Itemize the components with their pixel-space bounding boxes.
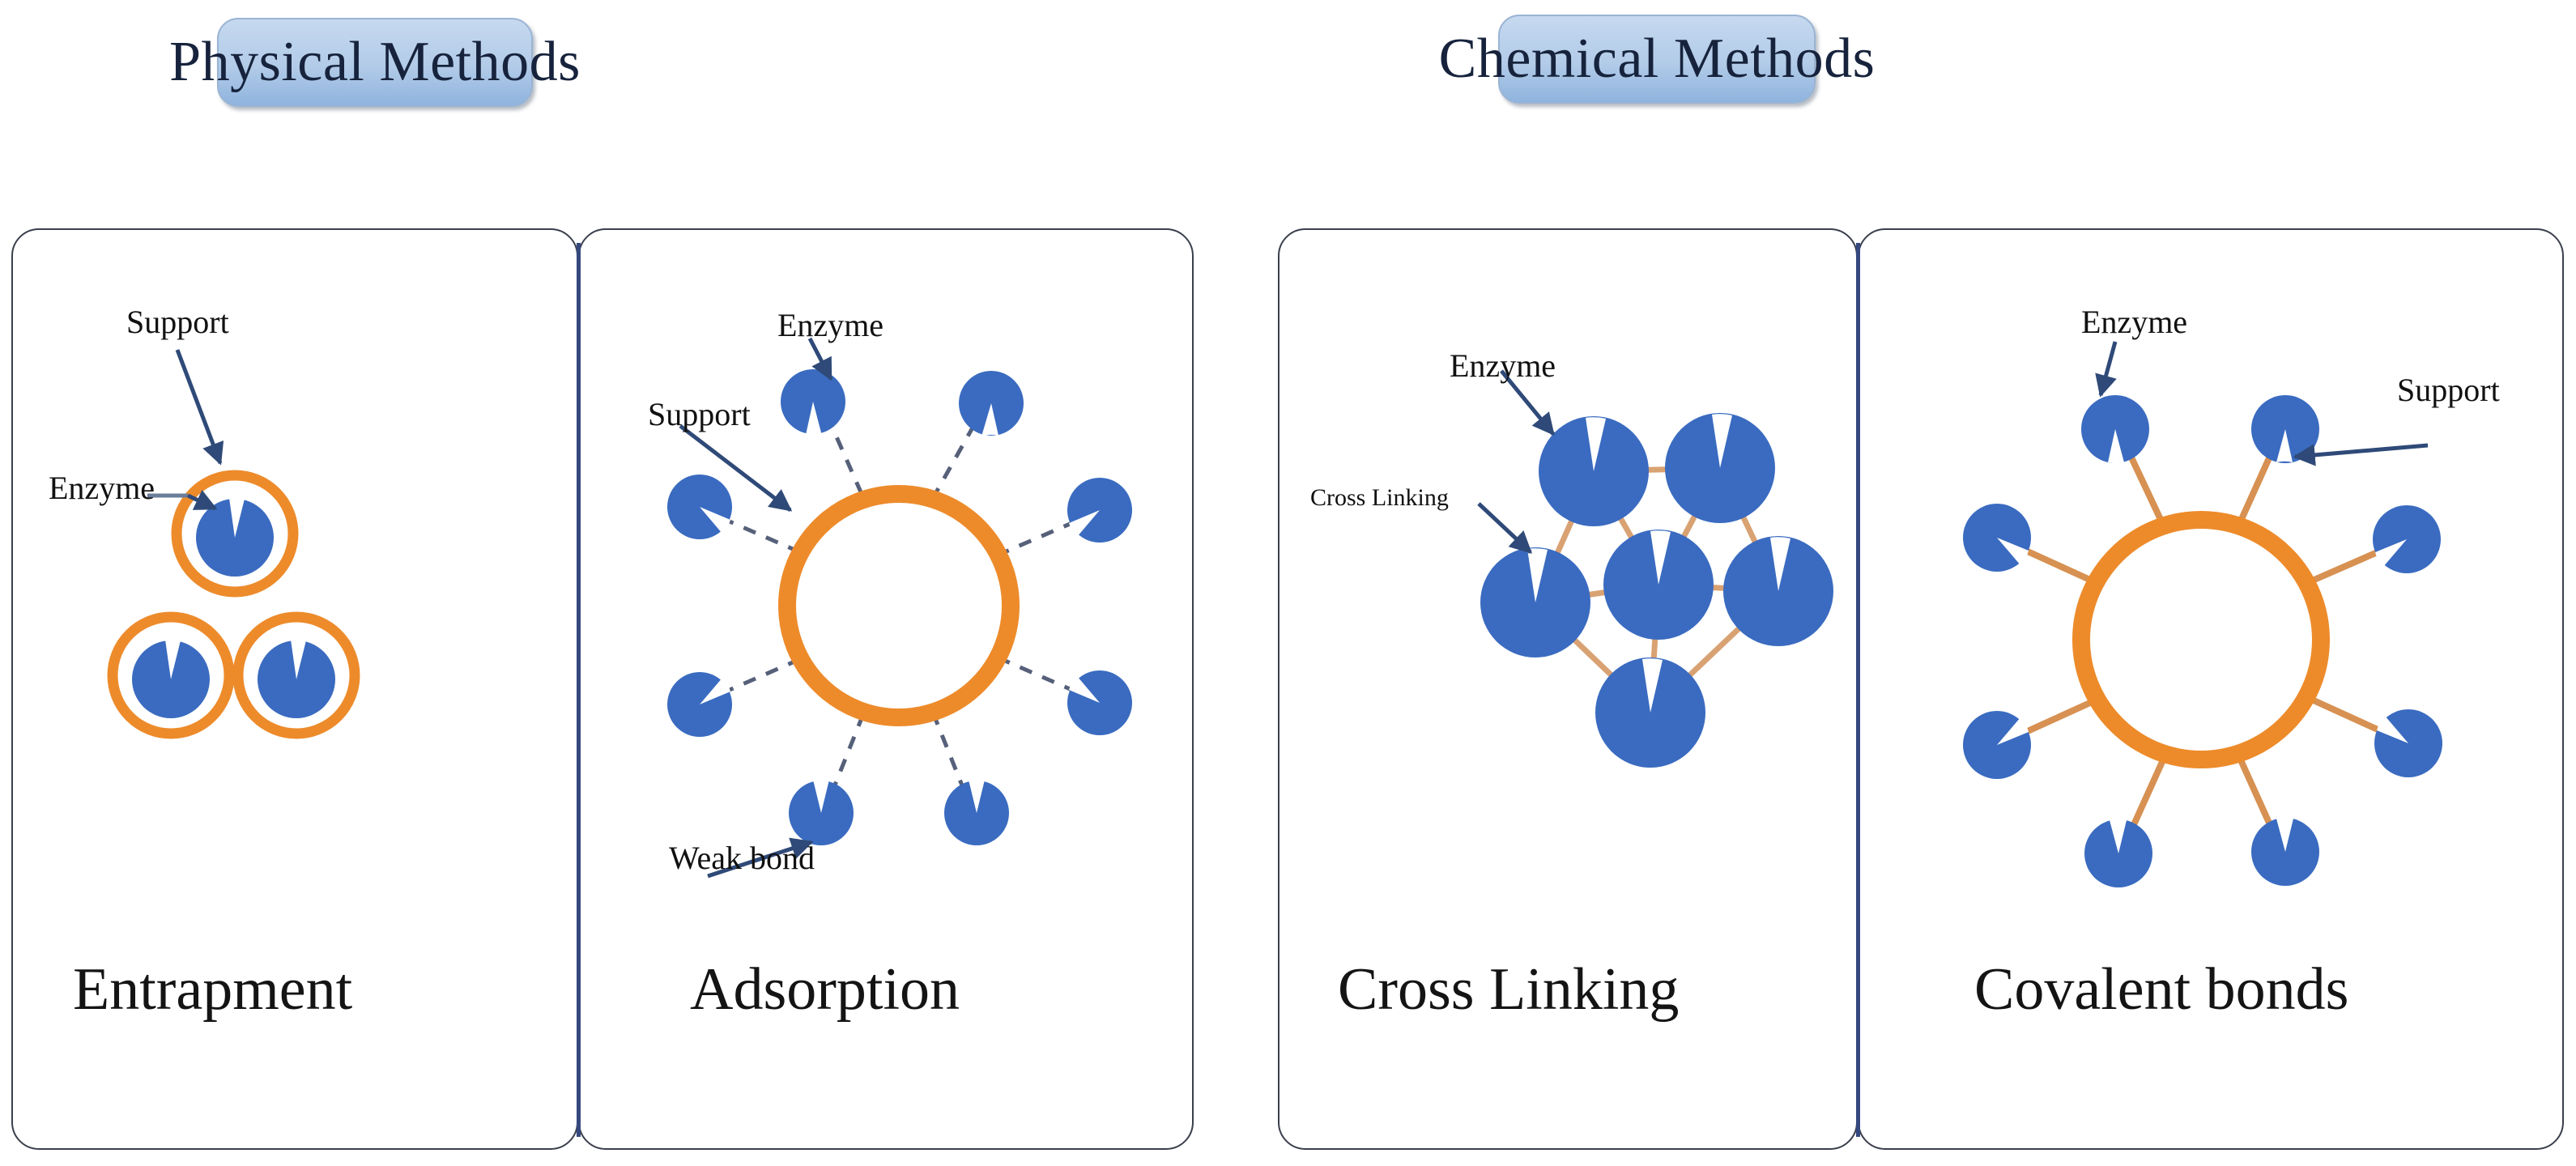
- enzyme-shape: [1963, 504, 2031, 572]
- enzyme-shape: [1067, 670, 1132, 735]
- diagram-covalent-bonds: [1858, 228, 2564, 1038]
- support-ring: [787, 494, 1011, 717]
- leader-support: [177, 350, 220, 463]
- enzyme-shape: [1603, 530, 1714, 640]
- leader-cross-linking: [1479, 504, 1531, 552]
- entrapment-capsule-top: [177, 475, 293, 592]
- enzyme-shape: [196, 497, 274, 577]
- diagram-cross-linking: [1278, 228, 1858, 1038]
- enzyme-shape: [781, 369, 845, 436]
- enzyme-shape: [1723, 536, 1833, 646]
- enzyme-shape: [944, 779, 1009, 845]
- leader-support: [2295, 445, 2428, 457]
- banner-chemical-label: Chemical Methods: [1439, 31, 1876, 87]
- leader-enzyme: [2101, 342, 2115, 395]
- card-title-entrapment: Entrapment: [73, 960, 352, 1019]
- figure-canvas: Physical Methods Chemical Methods: [0, 0, 2576, 1166]
- enzyme-shape: [1480, 547, 1590, 657]
- covalent-bond-lines: [2012, 444, 2394, 837]
- support-ring: [2081, 520, 2321, 760]
- enzyme-shape: [2084, 819, 2152, 887]
- enzyme-shape: [2251, 395, 2319, 463]
- entrapment-capsule-bottom-right: [238, 617, 355, 734]
- enzyme-shape: [1539, 416, 1649, 526]
- diagram-entrapment: [11, 228, 578, 1038]
- enzyme-shape: [2374, 709, 2442, 777]
- callout-adsorption-support: Support: [648, 398, 751, 431]
- enzyme-shape: [1067, 478, 1132, 543]
- card-title-cross-linking: Cross Linking: [1338, 960, 1679, 1019]
- banner-physical-methods: Physical Methods: [217, 18, 533, 107]
- diagram-adsorption: [578, 228, 1194, 1038]
- card-title-covalent-bonds: Covalent bonds: [1974, 960, 2348, 1019]
- enzyme-shape: [667, 474, 732, 539]
- weak-bond-lines: [711, 413, 1087, 795]
- card-title-adsorption: Adsorption: [690, 960, 960, 1019]
- callout-covalent-support: Support: [2397, 374, 2500, 406]
- enzyme-shape: [2251, 818, 2319, 886]
- callout-cross-linking-bond: Cross Linking: [1310, 486, 1449, 510]
- enzyme-shape: [2373, 505, 2441, 573]
- callout-adsorption-enzyme: Enzyme: [777, 309, 884, 342]
- callout-entrapment-enzyme: Enzyme: [49, 472, 155, 504]
- enzyme-shape: [959, 371, 1024, 436]
- callout-cross-linking-enzyme: Enzyme: [1450, 350, 1556, 382]
- callout-entrapment-support: Support: [126, 306, 229, 338]
- banner-physical-label: Physical Methods: [169, 34, 581, 91]
- callout-covalent-enzyme: Enzyme: [2081, 306, 2187, 338]
- enzyme-shape: [258, 639, 335, 718]
- enzyme-shape: [1595, 657, 1705, 768]
- banner-chemical-methods: Chemical Methods: [1498, 15, 1816, 104]
- enzyme-shape: [667, 672, 732, 737]
- enzyme-shape: [1963, 711, 2031, 779]
- callout-adsorption-weak-bond: Weak bond: [669, 842, 815, 874]
- enzyme-shape: [789, 779, 854, 845]
- enzyme-shape: [2081, 395, 2149, 463]
- entrapment-capsule-bottom-left: [113, 617, 229, 734]
- enzyme-shape: [1665, 413, 1775, 523]
- enzyme-shape: [132, 639, 210, 718]
